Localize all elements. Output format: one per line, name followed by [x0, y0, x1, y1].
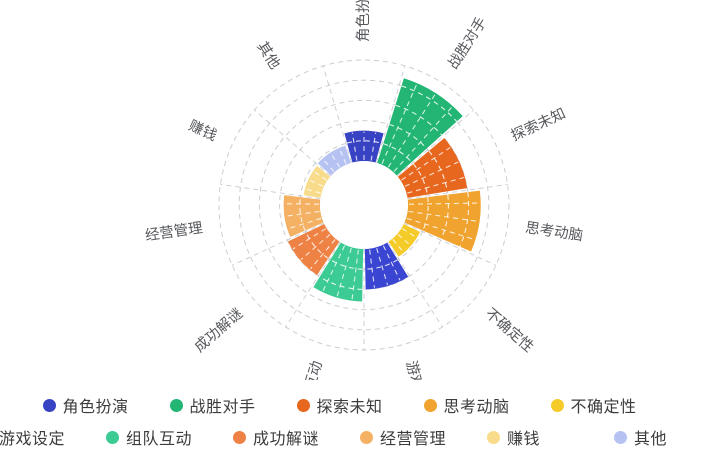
- legend-item-label: 思考动脑: [444, 393, 510, 417]
- grid-spoke: [254, 110, 330, 176]
- legend-swatch-icon: [170, 399, 183, 412]
- axis-category-label: 游戏设定: [402, 359, 435, 380]
- legend-item-label: 探索未知: [317, 393, 383, 417]
- legend-swatch-icon: [614, 431, 627, 444]
- legend-item[interactable]: 战胜对手: [170, 393, 297, 417]
- legend-item[interactable]: 赚钱: [487, 425, 614, 449]
- legend-row: 游戏设定组队互动成功解谜经营管理赚钱其他: [0, 425, 720, 449]
- legend-swatch-icon: [106, 431, 119, 444]
- axis-category-label: 其他: [253, 39, 283, 73]
- axis-category-label: 战胜对手: [445, 14, 491, 72]
- legend-item-label: 角色扮演: [63, 393, 129, 417]
- legend-item[interactable]: 探索未知: [297, 393, 424, 417]
- legend-item-label: 经营管理: [380, 425, 446, 449]
- legend-swatch-icon: [360, 431, 373, 444]
- legend-swatch-icon: [424, 399, 437, 412]
- grid-spoke: [388, 242, 443, 327]
- legend-swatch-icon: [233, 431, 246, 444]
- legend-item[interactable]: 成功解谜: [233, 425, 360, 449]
- legend-item[interactable]: 其他: [614, 425, 720, 449]
- legend-swatch-icon: [487, 431, 500, 444]
- polar-rose-chart: 角色扮演战胜对手探索未知思考动脑不确定性游戏设定组队互动成功解谜经营管理赚钱其他…: [0, 0, 720, 380]
- axis-category-label: 角色扮演: [355, 0, 372, 42]
- chart-canvas: 角色扮演战胜对手探索未知思考动脑不确定性游戏设定组队互动成功解谜经营管理赚钱其他…: [0, 0, 720, 380]
- legend-item-label: 游戏设定: [0, 425, 65, 449]
- legend-item-label: 战胜对手: [190, 393, 256, 417]
- legend-item[interactable]: 组队互动: [106, 425, 233, 449]
- legend-item[interactable]: 不确定性: [551, 393, 678, 417]
- donut-hole-circle: [320, 161, 408, 249]
- axis-category-label: 组队互动: [293, 359, 326, 380]
- legend-item[interactable]: 角色扮演: [43, 393, 170, 417]
- grid-spoke: [323, 66, 351, 163]
- legend-row: 角色扮演战胜对手探索未知思考动脑不确定性: [43, 393, 678, 417]
- axis-category-label: 不确定性: [482, 305, 537, 356]
- axis-category-label: 探索未知: [509, 105, 569, 145]
- legend-item-label: 赚钱: [507, 425, 540, 449]
- legend-swatch-icon: [297, 399, 310, 412]
- legend-item[interactable]: 经营管理: [360, 425, 487, 449]
- legend-item-label: 不确定性: [571, 393, 637, 417]
- axis-category-label: 成功解谜: [191, 305, 246, 356]
- axis-category-label: 赚钱: [186, 117, 219, 145]
- legend-item-label: 其他: [634, 425, 667, 449]
- axis-category-label: 经营管理: [144, 219, 204, 244]
- legend-item-label: 组队互动: [126, 425, 192, 449]
- legend-item-label: 成功解谜: [253, 425, 319, 449]
- legend-item[interactable]: 游戏设定: [0, 425, 106, 449]
- legend-item[interactable]: 思考动脑: [424, 393, 551, 417]
- donut-hole: [320, 161, 408, 249]
- legend-swatch-icon: [551, 399, 564, 412]
- chart-legend: 角色扮演战胜对手探索未知思考动脑不确定性游戏设定组队互动成功解谜经营管理赚钱其他: [0, 383, 720, 459]
- legend-swatch-icon: [43, 399, 56, 412]
- axis-category-label: 思考动脑: [524, 219, 584, 244]
